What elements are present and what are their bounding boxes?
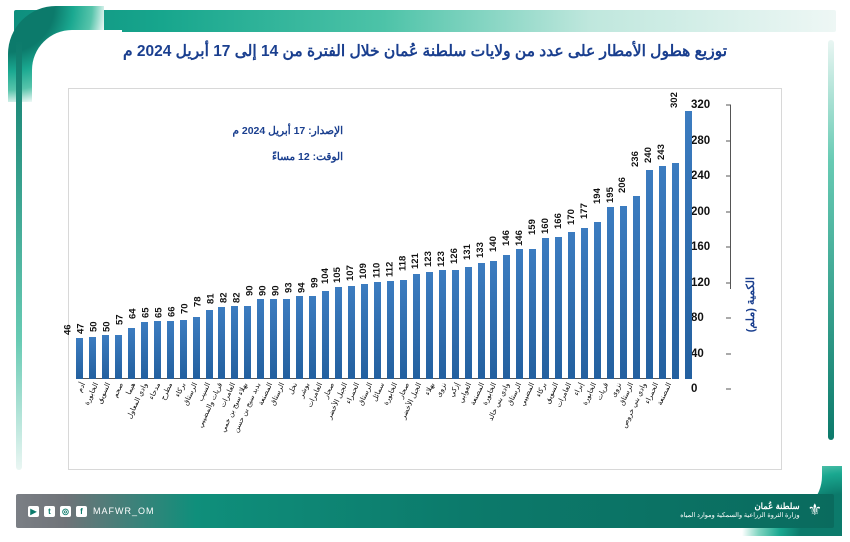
x-axis-label-cell: السويق (546, 379, 558, 465)
bar-value-label: 170 (566, 209, 577, 225)
bar (309, 296, 316, 379)
bar (607, 207, 614, 379)
bar-value-label: 94 (296, 282, 307, 293)
x-axis-label-cell: بدبد سيح بن حسن (247, 379, 259, 465)
bar-column: 104 (332, 97, 345, 379)
bar (154, 321, 161, 379)
x-axis-label-cell: الخابورة (484, 379, 496, 465)
bar-value-label: 194 (592, 188, 603, 204)
x-axis-labels: أدمالخابورةالسويقصحمهيماوادي المعاولمدحا… (73, 379, 671, 465)
x-axis-label-cell: الجبل الأخضر (409, 379, 421, 465)
y-axis: الكمية (ملم) 04080120160200240280320 (697, 97, 755, 379)
footer-bar: ▶ t ◎ f MAFWR_OM ⚜ سلطنة عُمان وزارة الث… (16, 494, 834, 528)
bar (633, 196, 640, 379)
ministry-logo: ⚜ سلطنة عُمان وزارة الثروة الزراعية والس… (680, 502, 822, 519)
y-tick-mark (726, 389, 731, 390)
bar-value-label: 90 (245, 286, 256, 297)
bar-value-label: 236 (630, 151, 641, 167)
y-axis-label: الكمية (ملم) (744, 277, 757, 332)
bar (465, 267, 472, 379)
bar-value-label: 65 (141, 308, 152, 319)
bar-column: 121 (423, 97, 436, 379)
bar (568, 232, 575, 379)
bar-value-label: 121 (410, 253, 421, 269)
bar-column: 131 (475, 97, 488, 379)
bar-value-label: 93 (283, 283, 294, 294)
y-tick-label: 0 (691, 383, 725, 395)
bar (128, 328, 135, 379)
x-axis-label-cell: نخل (285, 379, 297, 465)
bar-value-label: 65 (154, 308, 165, 319)
bar-value-label: 90 (270, 286, 281, 297)
bar-value-label: 131 (462, 244, 473, 260)
chart-container: الإصدار: 17 أبريل 2024 م الوقت: 12 مساءً… (68, 88, 782, 470)
x-axis-label-cell: الجبل الأخضر (335, 379, 347, 465)
bar-column: 78 (203, 97, 216, 379)
bar-value-label: 243 (656, 144, 667, 160)
ministry-line-2: وزارة الثروة الزراعية والسمكية وموارد ال… (680, 512, 799, 519)
bar-value-label: 78 (193, 296, 204, 307)
x-axis-label-cell: المصنعة (472, 379, 484, 465)
bar-column: 123 (436, 97, 449, 379)
social-icons[interactable]: ▶ t ◎ f (28, 506, 87, 517)
bar-value-label: 140 (488, 236, 499, 252)
bar-value-label: 240 (643, 147, 654, 163)
x-axis-label-cell: سمائل (372, 379, 384, 465)
y-tick-label: 280 (691, 135, 725, 147)
y-tick-mark (726, 105, 731, 106)
x-axis-label-cell: إبراء (571, 379, 583, 465)
bar (478, 263, 485, 379)
bar-value-label: 82 (232, 293, 243, 304)
x-axis-label-cell: وادي بني خالد (496, 379, 508, 465)
bar-value-label: 159 (527, 219, 538, 235)
x-axis-label-cell: نزوى (608, 379, 620, 465)
bar-value-label: 90 (257, 286, 268, 297)
bar (283, 299, 290, 379)
x-axis-label-cell: الرستاق (359, 379, 371, 465)
bar-column: 90 (254, 97, 267, 379)
bar (361, 284, 368, 379)
bar-column: 65 (164, 97, 177, 379)
bar-value-label: 123 (436, 251, 447, 267)
bar (685, 111, 692, 379)
bar-column: 82 (241, 97, 254, 379)
y-tick-label: 320 (691, 99, 725, 111)
bar (348, 286, 355, 379)
bar (180, 320, 187, 379)
y-axis-line (730, 105, 731, 289)
bar-series: 4647505057646565667078818282909090939499… (73, 97, 695, 379)
bar-column: 159 (539, 97, 552, 379)
bar (413, 274, 420, 379)
header-band (14, 10, 836, 32)
x-axis-label-cell: السويق (98, 379, 110, 465)
bar-value-label: 166 (553, 213, 564, 229)
bar (646, 170, 653, 379)
bar-column: 126 (462, 97, 475, 379)
decor-right-bar (828, 40, 834, 440)
bar-value-label: 110 (372, 263, 383, 278)
x-axis-label-cell: قريات (596, 379, 608, 465)
bar-value-label: 146 (514, 231, 525, 247)
bar-column: 90 (280, 97, 293, 379)
plot-area: 4647505057646565667078818282909090939499… (73, 97, 695, 379)
bar-column: 107 (358, 97, 371, 379)
bar-column: 240 (656, 97, 669, 379)
twitter-icon[interactable]: t (44, 506, 55, 517)
bar (555, 237, 562, 379)
bar (581, 228, 588, 379)
bar-column: 70 (190, 97, 203, 379)
bar-column: 99 (319, 97, 332, 379)
ministry-line-1: سلطنة عُمان (680, 502, 799, 512)
bar-column: 236 (643, 97, 656, 379)
x-axis-label-cell: بركاء (173, 379, 185, 465)
bar-column: 82 (228, 97, 241, 379)
y-tick-label: 160 (691, 241, 725, 253)
bar-value-label: 146 (501, 231, 512, 247)
bar-value-label: 302 (669, 92, 680, 108)
bar-value-label: 105 (333, 267, 344, 283)
bar (659, 166, 666, 379)
y-tick-mark (726, 211, 731, 212)
bar-column: 94 (306, 97, 319, 379)
bar-column: 166 (565, 97, 578, 379)
bar-value-label: 107 (346, 265, 357, 281)
bar-column: 243 (669, 97, 682, 379)
bar-column: 46 (73, 97, 86, 379)
bar-column: 177 (591, 97, 604, 379)
bar-column: 118 (410, 97, 423, 379)
y-tick-mark (726, 140, 731, 141)
bar-value-label: 66 (167, 307, 178, 318)
bar-column: 123 (449, 97, 462, 379)
bar (115, 335, 122, 379)
bar (270, 299, 277, 379)
bar-column: 110 (384, 97, 397, 379)
bar-column: 302 (682, 97, 695, 379)
bar-value-label: 104 (320, 268, 331, 284)
bar (516, 249, 523, 379)
x-axis-label-cell: وادي بني خروص (633, 379, 645, 465)
bar (231, 306, 238, 379)
bar (141, 322, 148, 379)
x-axis-label-cell: العامرات (559, 379, 571, 465)
bar (244, 306, 251, 379)
x-axis-label-cell: المضيبي (521, 379, 533, 465)
bar (426, 272, 433, 379)
x-axis-label-cell: الخابورة (584, 379, 596, 465)
x-axis-label-cell: العامرات (310, 379, 322, 465)
bar-column: 112 (397, 97, 410, 379)
x-axis-label-cell: بوشر (297, 379, 309, 465)
bar-value-label: 50 (102, 321, 113, 332)
bar (374, 282, 381, 379)
bar (76, 338, 83, 379)
x-axis-label-cell: أدم (73, 379, 85, 465)
bar-value-label: 160 (540, 218, 551, 234)
bar-value-label: 70 (180, 303, 191, 314)
social-handle: MAFWR_OM (93, 506, 155, 516)
x-axis-label-cell: المصنعة (658, 379, 670, 465)
bar-column: 160 (552, 97, 565, 379)
bar-value-label: 206 (618, 177, 629, 193)
x-axis-label-cell: صحار (397, 379, 409, 465)
bar-value-label: 81 (206, 294, 217, 305)
bar-column: 65 (151, 97, 164, 379)
bar-value-label: 195 (605, 187, 616, 203)
bar-column: 57 (125, 97, 138, 379)
bar-column: 170 (578, 97, 591, 379)
bar-value-label: 126 (449, 248, 460, 264)
instagram-icon[interactable]: ◎ (60, 506, 71, 517)
x-axis-label-cell: مطرح (160, 379, 172, 465)
bar-column: 194 (604, 97, 617, 379)
bar (503, 255, 510, 379)
decor-left-bar (16, 40, 22, 470)
bar-value-label: 109 (358, 263, 369, 279)
x-axis-label-cell: وادي المعاول (135, 379, 147, 465)
x-axis-label-cell: نزوى (434, 379, 446, 465)
bar (206, 310, 213, 379)
y-tick-label: 120 (691, 277, 725, 289)
x-axis-label-cell: الخابورة (384, 379, 396, 465)
y-tick-label: 240 (691, 170, 725, 182)
bar-column: 146 (526, 97, 539, 379)
bar-value-label: 46 (63, 325, 74, 336)
y-tick-mark (726, 353, 731, 354)
bar-column: 195 (617, 97, 630, 379)
bar-column: 206 (630, 97, 643, 379)
bar (89, 337, 96, 379)
poster-page: توزيع هطول الأمطار على عدد من ولايات سلط… (0, 0, 850, 542)
bar-value-label: 47 (76, 324, 87, 335)
x-axis-label-cell: الحمراء (646, 379, 658, 465)
bar (620, 206, 627, 379)
y-tick-mark (726, 318, 731, 319)
bar (218, 307, 225, 379)
x-axis-label-cell: العوابي (459, 379, 471, 465)
bar-value-label: 177 (579, 203, 590, 219)
bar (490, 261, 497, 379)
bar-value-label: 82 (219, 293, 230, 304)
bar-value-label: 57 (115, 315, 126, 326)
bar (257, 299, 264, 379)
bar-value-label: 112 (385, 261, 396, 276)
x-axis-label-cell: الخابورة (85, 379, 97, 465)
x-axis-label-cell: الرستاق (509, 379, 521, 465)
x-axis-label-cell: صحار (322, 379, 334, 465)
bar-column: 105 (345, 97, 358, 379)
ministry-text: سلطنة عُمان وزارة الثروة الزراعية والسمك… (680, 502, 799, 519)
bar-value-label: 118 (398, 256, 409, 271)
y-tick-label: 200 (691, 206, 725, 218)
bar (335, 287, 342, 379)
bar (452, 270, 459, 379)
bar (193, 317, 200, 379)
khanjar-emblem-icon: ⚜ (808, 503, 822, 519)
bar-column: 109 (371, 97, 384, 379)
bar-column: 50 (112, 97, 125, 379)
y-tick-label: 80 (691, 312, 725, 324)
bar (672, 163, 679, 379)
bar-column: 50 (99, 97, 112, 379)
bar-value-label: 133 (475, 242, 486, 258)
bar-column: 93 (293, 97, 306, 379)
x-axis-label-cell: مدحاء (148, 379, 160, 465)
bar (542, 238, 549, 379)
bar (594, 222, 601, 379)
x-axis-label-cell: هيما (123, 379, 135, 465)
bar (296, 296, 303, 379)
x-axis-label-cell: بركاء (534, 379, 546, 465)
bar-column: 90 (267, 97, 280, 379)
bar (387, 281, 394, 379)
bar-column: 66 (177, 97, 190, 379)
y-tick-label: 40 (691, 348, 725, 360)
y-tick-mark (726, 176, 731, 177)
bar-column: 64 (138, 97, 151, 379)
bar-value-label: 50 (89, 321, 100, 332)
bar-value-label: 99 (309, 278, 320, 289)
y-tick-mark (726, 282, 731, 283)
x-axis-label-cell: بهلاء (422, 379, 434, 465)
bar-value-label: 64 (128, 309, 139, 320)
bar (439, 270, 446, 379)
x-axis-label-cell: الحمراء (347, 379, 359, 465)
bar-column: 47 (86, 97, 99, 379)
bar-value-label: 123 (423, 251, 434, 267)
facebook-icon[interactable]: f (76, 506, 87, 517)
x-axis-label-cell: الرستاق (272, 379, 284, 465)
youtube-icon[interactable]: ▶ (28, 506, 39, 517)
bar-column: 81 (215, 97, 228, 379)
bar (167, 321, 174, 379)
page-title: توزيع هطول الأمطار على عدد من ولايات سلط… (0, 42, 850, 61)
y-tick-mark (726, 247, 731, 248)
bar (102, 335, 109, 379)
x-axis-label-cell: صحم (110, 379, 122, 465)
bar (529, 249, 536, 379)
x-axis-label-cell: المصنعة (260, 379, 272, 465)
x-axis-label-cell: إزكي (447, 379, 459, 465)
bar (322, 291, 329, 379)
bar (400, 280, 407, 379)
